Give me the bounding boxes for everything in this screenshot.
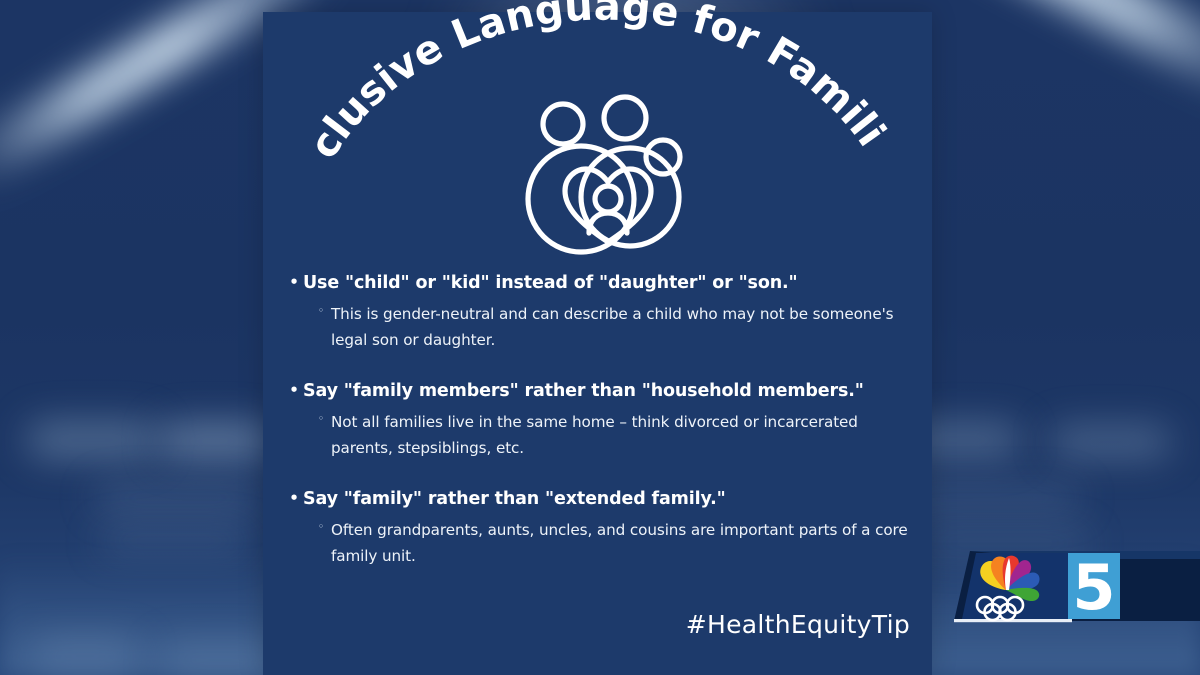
tip-sub-text: Often grandparents, aunts, uncles, and c… [331,517,916,569]
tip-main-point: • Say "family members" rather than "hous… [285,380,925,403]
tip-group: • Use "child" or "kid" instead of "daugh… [285,272,925,353]
background-blur-shape [95,486,260,510]
tip-group: • Say "family" rather than "extended fam… [285,488,925,569]
tip-sub-point: ◦ Often grandparents, aunts, uncles, and… [285,517,925,569]
tip-main-text: Say "family members" rather than "househ… [303,380,864,403]
tip-sub-point: ◦ Not all families live in the same home… [285,409,925,461]
background-blur-shape [28,422,156,458]
health-equity-tip-card: Inclusive Language for Families [263,12,932,675]
background-blur-shape [1050,426,1170,458]
tip-sub-text: Not all families live in the same home –… [331,409,916,461]
background-blur-shape [100,530,250,552]
tip-main-point: • Use "child" or "kid" instead of "daugh… [285,272,925,295]
tip-sub-text: This is gender-neutral and can describe … [331,301,916,353]
nbc-5-station-bug: 5 [940,545,1200,627]
tip-main-point: • Say "family" rather than "extended fam… [285,488,925,511]
tip-main-text: Use "child" or "kid" instead of "daughte… [303,272,797,295]
tip-group: • Say "family members" rather than "hous… [285,380,925,461]
family-group-heart-icon [515,90,695,260]
tips-list: • Use "child" or "kid" instead of "daugh… [285,272,925,569]
bullet-marker-hollow: ◦ [311,301,331,321]
bullet-marker-hollow: ◦ [311,409,331,429]
bullet-marker-filled: • [285,488,303,508]
bullet-marker-filled: • [285,272,303,292]
bullet-marker-hollow: ◦ [311,517,331,537]
tip-sub-point: ◦ This is gender-neutral and can describ… [285,301,925,353]
background-blur-shape [160,424,270,458]
channel-number: 5 [1072,551,1115,624]
hashtag-label: #HealthEquityTip [686,610,910,639]
tip-main-text: Say "family" rather than "extended famil… [303,488,726,511]
bullet-marker-filled: • [285,380,303,400]
